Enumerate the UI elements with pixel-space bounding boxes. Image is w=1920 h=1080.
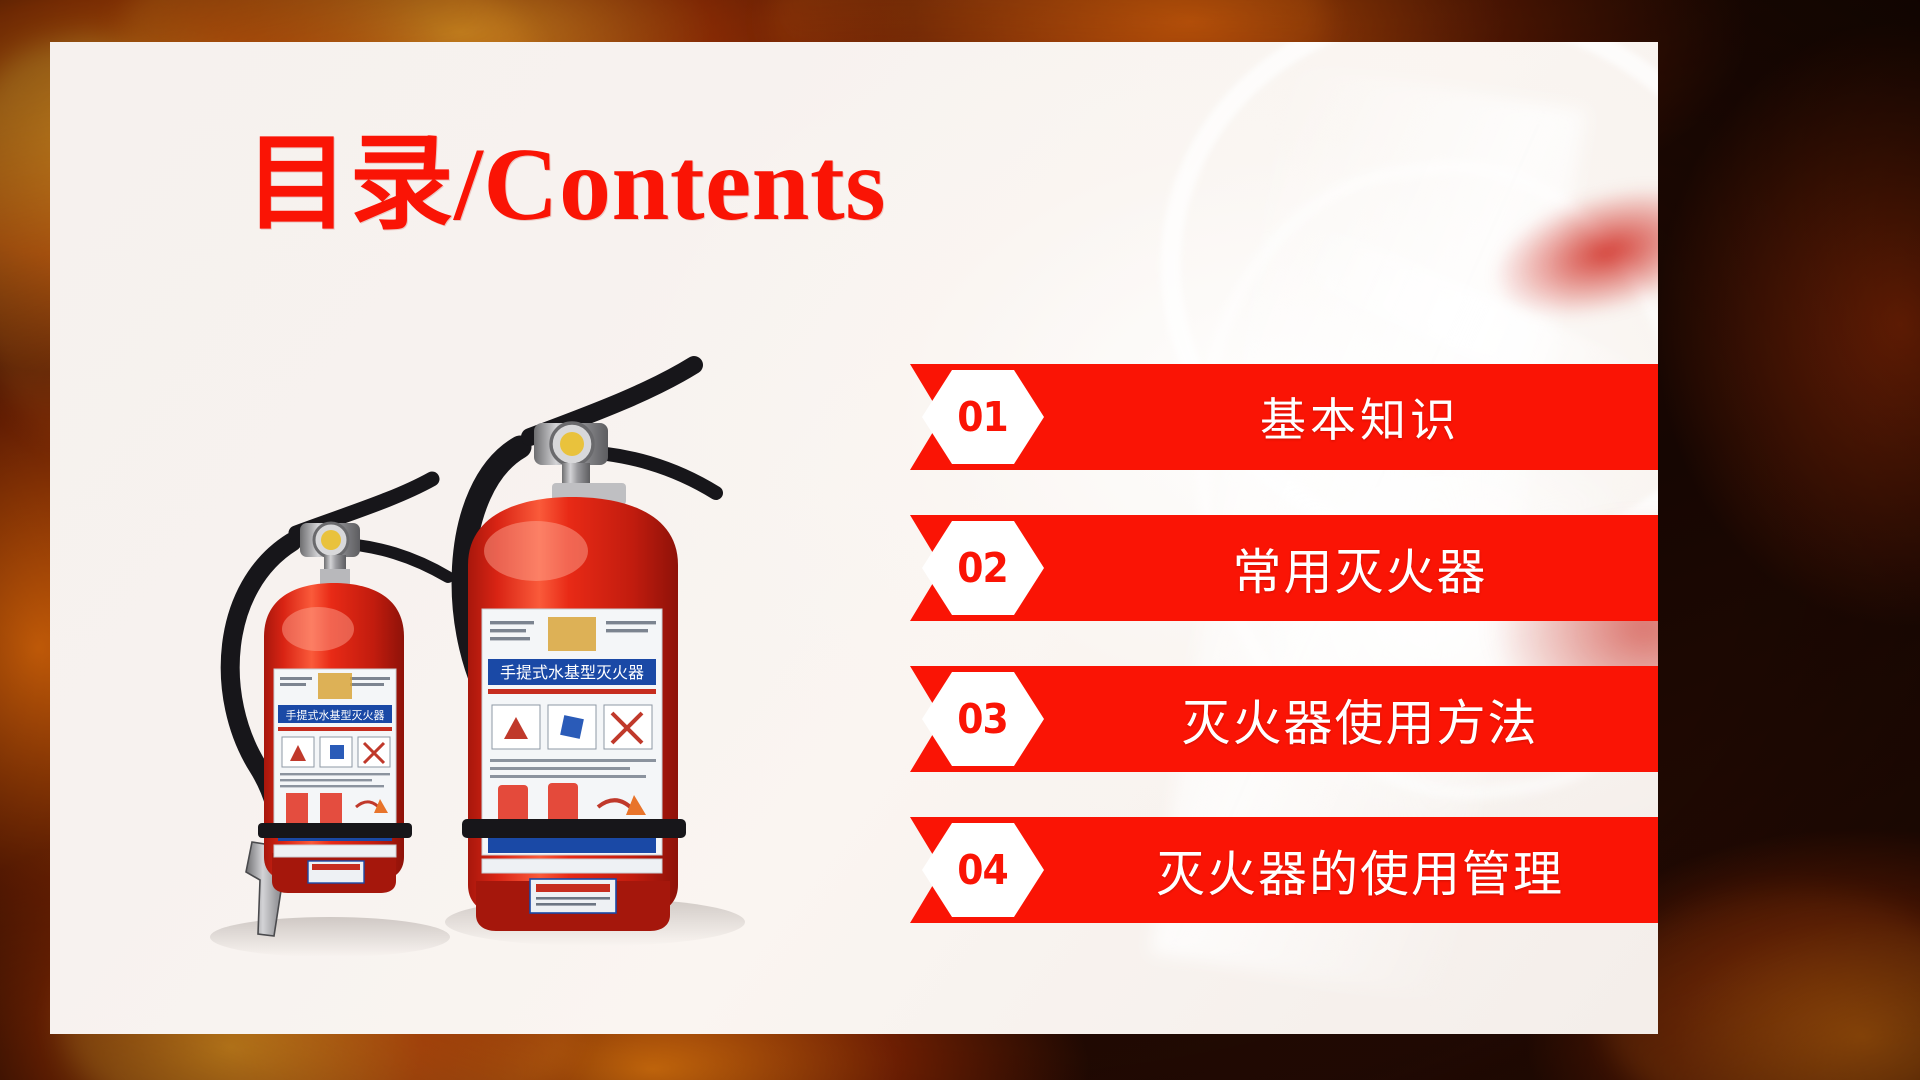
contents-item-label: 常用灭火器 xyxy=(1080,515,1640,621)
contents-item-number: 04 xyxy=(958,846,1009,894)
slide-card: 目录/Contents xyxy=(50,42,1658,1034)
svg-text:手提式水基型灭火器: 手提式水基型灭火器 xyxy=(500,663,644,682)
page-title: 目录/Contents xyxy=(245,130,886,240)
contents-item-label: 灭火器使用方法 xyxy=(1080,666,1640,772)
contents-list: 基本知识 01 常用灭火器 02 灭火器使用方法 03 灭火器的使用管理 04 xyxy=(910,364,1658,923)
red-glass-glow xyxy=(1476,161,1658,343)
contents-item-number: 03 xyxy=(958,695,1009,743)
fire-extinguisher-illustration: 手提式水基型灭火器 xyxy=(200,337,840,962)
contents-item-01[interactable]: 基本知识 01 xyxy=(910,364,1658,470)
contents-item-number: 01 xyxy=(958,393,1009,441)
contents-item-label: 灭火器的使用管理 xyxy=(1080,817,1640,923)
contents-item-02[interactable]: 常用灭火器 02 xyxy=(910,515,1658,621)
contents-item-03[interactable]: 灭火器使用方法 03 xyxy=(910,666,1658,772)
contents-item-number: 02 xyxy=(958,544,1009,592)
svg-text:手提式水基型灭火器: 手提式水基型灭火器 xyxy=(286,708,385,722)
contents-item-label: 基本知识 xyxy=(1080,364,1640,470)
contents-item-04[interactable]: 灭火器的使用管理 04 xyxy=(910,817,1658,923)
